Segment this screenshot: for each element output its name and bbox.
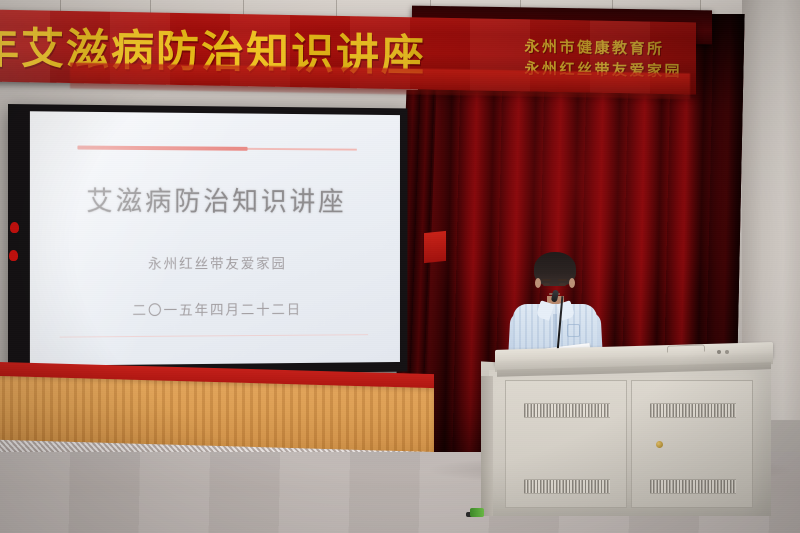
podium-control-button[interactable] (725, 350, 729, 354)
podium-control-button[interactable] (717, 350, 721, 354)
speaker-eye-right (559, 283, 566, 286)
red-decoration-stripe (424, 231, 446, 263)
photograph-scene: 艾滋病防治知识讲座 永州红丝带友爱家园 二〇一五年四月二十二日 年艾滋病防治知识… (0, 0, 800, 533)
podium-lock-knob-icon[interactable] (656, 441, 663, 448)
red-ribbon-decoration-icon (9, 250, 18, 261)
podium-vent-grille (524, 479, 610, 494)
speaker-brow-right (558, 279, 567, 281)
projection-screen-frame: 艾滋病防治知识讲座 永州红丝带友爱家园 二〇一五年四月二十二日 (8, 104, 407, 376)
projection-screen-surface: 艾滋病防治知识讲座 永州红丝带友爱家园 二〇一五年四月二十二日 (30, 111, 400, 366)
red-ribbon-decoration-icon (10, 222, 19, 233)
green-power-strip (470, 508, 484, 517)
speaker-shirt-pocket (567, 324, 580, 337)
podium-left-side-panel (481, 376, 493, 516)
podium-cabinet-door-left[interactable] (505, 380, 627, 508)
speaker-brow-left (542, 279, 551, 281)
slide-rule-accent (77, 145, 247, 150)
presentation-slide: 艾滋病防治知识讲座 永州红丝带友爱家园 二〇一五年四月二十二日 (30, 111, 400, 366)
lectern-podium (481, 346, 773, 516)
speaker-eye-left (543, 283, 550, 286)
speaker-ear-left (535, 278, 541, 288)
podium-vent-grille (524, 403, 610, 418)
podium-cabinet-door-right[interactable] (631, 380, 753, 508)
podium-vent-grille (650, 479, 736, 494)
slide-rule-bottom (60, 334, 368, 338)
banner-org-line-1: 永州市健康教育所 (524, 36, 682, 61)
slide-title: 艾滋病防治知识讲座 (30, 179, 400, 219)
speaker-ear-right (569, 278, 575, 288)
slide-subtitle: 永州红丝带友爱家园 (30, 254, 400, 274)
podium-vent-grille (650, 403, 736, 418)
slide-date: 二〇一五年四月二十二日 (30, 299, 400, 321)
podium-handle[interactable] (667, 344, 705, 352)
